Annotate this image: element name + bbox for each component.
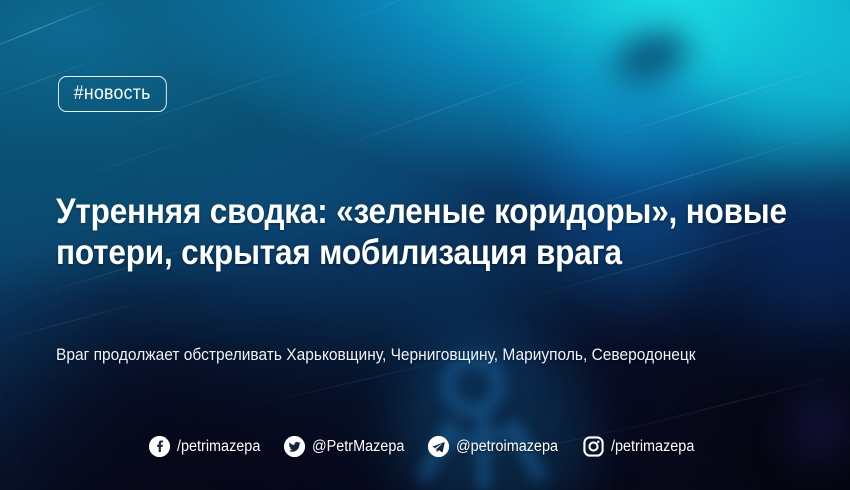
social-handle-telegram: @petroimazepa <box>456 439 558 455</box>
social-link-telegram[interactable]: @petroimazepa <box>428 436 566 457</box>
social-handle-twitter: @PetrMazepa <box>312 439 404 455</box>
telegram-icon <box>428 436 449 457</box>
headline: Утренняя сводка: «зеленые коридоры», нов… <box>56 192 722 274</box>
headline-line-1: Утренняя сводка: «зеленые коридоры», нов… <box>56 192 722 233</box>
social-links-bar: /petrimazepa @PetrMazepa <box>0 436 850 457</box>
social-link-twitter[interactable]: @PetrMazepa <box>284 436 411 457</box>
category-tag-label: #новость <box>74 83 151 104</box>
social-handle-instagram: /petrimazepa <box>611 439 694 455</box>
instagram-icon <box>583 436 604 457</box>
news-social-card: #новость Утренняя сводка: «зеленые корид… <box>0 0 850 490</box>
category-tag[interactable]: #новость <box>58 76 166 112</box>
twitter-icon <box>284 436 305 457</box>
social-handle-facebook: /petrimazepa <box>177 439 260 455</box>
subtitle: Враг продолжает обстреливать Харьковщину… <box>56 345 799 366</box>
social-link-facebook[interactable]: /petrimazepa <box>149 436 267 457</box>
card-content: #новость Утренняя сводка: «зеленые корид… <box>0 0 850 490</box>
social-link-instagram[interactable]: /petrimazepa <box>583 436 701 457</box>
headline-line-2: потери, скрытая мобилизация врага <box>56 233 722 274</box>
facebook-icon <box>149 436 170 457</box>
